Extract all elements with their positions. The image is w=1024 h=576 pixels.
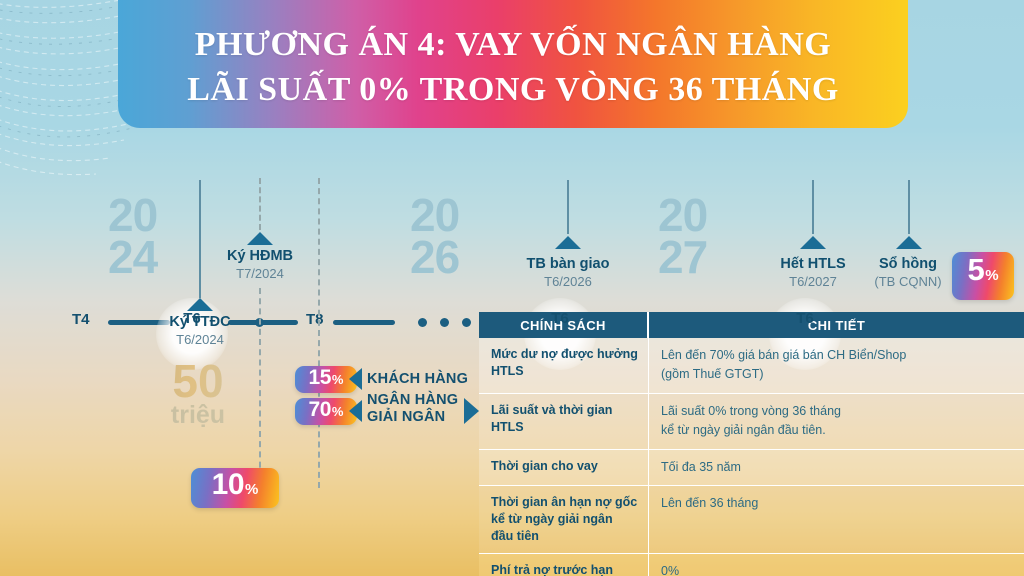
year-label-2026: 20 26	[410, 194, 459, 279]
year-top: 20	[108, 194, 157, 236]
title-banner: PHƯƠNG ÁN 4: VAY VỐN NGÂN HÀNG LÃI SUẤT …	[118, 0, 908, 128]
arrow-left-bank	[349, 400, 362, 422]
amount-value: 50	[138, 360, 258, 404]
axis-dot	[462, 318, 471, 327]
badge-value: 5	[967, 252, 984, 288]
tick-label-t8-2024: T8	[306, 311, 324, 328]
table-cell-policy: Phí trả nợ trước hạn trong thời gian HTL…	[479, 554, 649, 576]
badge-symbol: %	[332, 404, 344, 419]
table-row: Thời gian ân hạn nợ gốc kể từ ngày giải …	[479, 486, 1024, 554]
marker-triangle-tb-ban-giao	[555, 236, 581, 249]
badge-symbol: %	[332, 372, 344, 387]
event-ky-hdmb: Ký HĐMB T7/2024	[180, 248, 340, 281]
stem-so-hong	[908, 180, 910, 234]
badge-value: 15	[309, 366, 331, 390]
node-label: T6	[526, 310, 594, 327]
amount-unit: triệu	[138, 404, 258, 428]
policy-table: CHÍNH SÁCH CHI TIẾT Mức dư nợ được hưởng…	[479, 312, 1024, 576]
stem-ky-ttdc	[199, 180, 201, 298]
year-top: 20	[410, 194, 459, 236]
badge-value: 10	[212, 468, 244, 502]
flow-label-bank-line2: GIẢI NGÂN	[367, 409, 458, 426]
marker-triangle-so-hong	[896, 236, 922, 249]
stem-tb-ban-giao	[567, 180, 569, 234]
badge-value: 70	[309, 398, 331, 422]
stem-ky-hdmb	[259, 178, 261, 230]
event-date: T6/2024	[120, 332, 280, 347]
detail-line-1: Lên đến 70% giá bán giá bán CH Biển/Shop	[661, 346, 1014, 365]
table-row: Mức dư nợ được hưởng HTLS Lên đến 70% gi…	[479, 338, 1024, 394]
title-line-2: LÃI SUẤT 0% TRONG VÒNG 36 THÁNG	[187, 68, 839, 113]
axis-dot	[418, 318, 427, 327]
detail-line-1: Lãi suất 0% trong vòng 36 tháng	[661, 402, 1014, 421]
year-label-2024: 20 24	[108, 194, 157, 279]
arrow-right-to-table	[464, 398, 479, 424]
table-row: Phí trả nợ trước hạn trong thời gian HTL…	[479, 554, 1024, 576]
table-cell-detail: Lên đến 70% giá bán giá bán CH Biển/Shop…	[649, 338, 1024, 393]
year-label-2027: 20 27	[658, 194, 707, 279]
event-name: TB bàn giao	[488, 256, 648, 273]
tick-label-t4: T4	[72, 311, 90, 328]
event-date: T6/2026	[488, 274, 648, 289]
axis-segment	[333, 320, 395, 325]
event-date: T7/2024	[180, 266, 340, 281]
badge-symbol: %	[245, 481, 258, 498]
year-bottom: 24	[108, 236, 157, 278]
year-top: 20	[658, 194, 707, 236]
marker-triangle-ky-hdmb	[247, 232, 273, 245]
badge-15-percent: 15 %	[295, 366, 357, 393]
table-row: Thời gian cho vay Tối đa 35 năm	[479, 450, 1024, 486]
badge-10-percent: 10 %	[191, 468, 279, 508]
table-cell-policy: Mức dư nợ được hưởng HTLS	[479, 338, 649, 393]
node-label: T6	[158, 310, 226, 327]
year-bottom: 26	[410, 236, 459, 278]
amount-block: 50 triệu	[138, 360, 258, 427]
stem-het-htls	[812, 180, 814, 234]
title-line-1: PHƯƠNG ÁN 4: VAY VỐN NGÂN HÀNG	[195, 23, 831, 68]
marker-triangle-het-htls	[800, 236, 826, 249]
detail-line-2: kể từ ngày giải ngân đầu tiên.	[661, 421, 1014, 440]
node-label: T6	[771, 310, 839, 327]
year-bottom: 27	[658, 236, 707, 278]
table-cell-detail: Lãi suất 0% trong vòng 36 tháng kể từ ng…	[649, 394, 1024, 449]
badge-5-percent: 5 %	[952, 252, 1014, 300]
table-cell-policy: Thời gian cho vay	[479, 450, 649, 485]
table-row: Lãi suất và thời gian HTLS Lãi suất 0% t…	[479, 394, 1024, 450]
table-cell-policy: Thời gian ân hạn nợ gốc kể từ ngày giải …	[479, 486, 649, 553]
guide-dash-t8-2024	[318, 178, 320, 488]
event-name: Ký HĐMB	[180, 248, 340, 265]
table-cell-detail: 0%	[649, 554, 1024, 576]
flow-label-bank-line1: NGÂN HÀNG	[367, 392, 458, 409]
badge-symbol: %	[985, 267, 998, 284]
arrow-left-customer	[349, 368, 362, 390]
flow-label-bank: NGÂN HÀNG GIẢI NGÂN	[367, 392, 458, 426]
axis-dot	[440, 318, 449, 327]
flow-label-customer: KHÁCH HÀNG	[367, 371, 468, 388]
badge-70-percent: 70 %	[295, 398, 357, 425]
event-tb-ban-giao: TB bàn giao T6/2026	[488, 256, 648, 289]
table-cell-detail: Lên đến 36 tháng	[649, 486, 1024, 553]
detail-line-2: (gồm Thuế GTGT)	[661, 365, 1014, 384]
table-cell-detail: Tối đa 35 năm	[649, 450, 1024, 485]
table-cell-policy: Lãi suất và thời gian HTLS	[479, 394, 649, 449]
